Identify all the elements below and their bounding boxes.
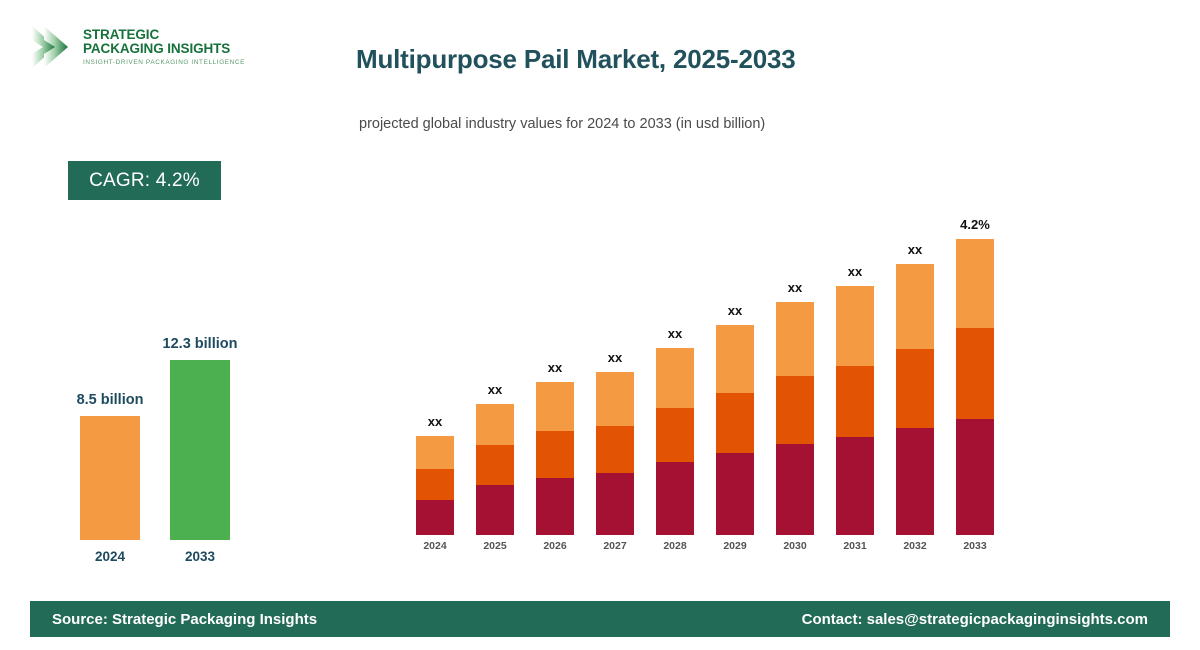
stacked-bar xyxy=(596,372,634,535)
stacked-segment-middle xyxy=(716,393,754,453)
stacked-axis-label: 2030 xyxy=(783,540,806,552)
stacked-axis-label: 2026 xyxy=(543,540,566,552)
green-chevron-icon xyxy=(30,24,74,70)
stacked-column: 4.2%2033 xyxy=(956,239,994,535)
stacked-bar xyxy=(956,239,994,535)
stacked-segment-bottom xyxy=(836,437,874,535)
stacked-value-label: xx xyxy=(848,264,862,279)
stacked-segment-middle xyxy=(596,426,634,473)
stacked-value-label: xx xyxy=(608,350,622,365)
stacked-segment-middle xyxy=(416,469,454,500)
comparison-bar xyxy=(80,416,140,540)
brand-logo: STRATEGIC PACKAGING INSIGHTS INSIGHT-DRI… xyxy=(30,16,270,78)
stacked-segment-bottom xyxy=(656,462,694,535)
stacked-segment-bottom xyxy=(416,500,454,535)
stacked-value-label: 4.2% xyxy=(960,217,990,232)
stacked-segment-top xyxy=(476,404,514,445)
stacked-axis-label: 2033 xyxy=(963,540,986,552)
stacked-column: xx2029 xyxy=(716,325,754,535)
stacked-column: xx2030 xyxy=(776,302,814,535)
page-subtitle: projected global industry values for 202… xyxy=(359,116,765,132)
stacked-segment-bottom xyxy=(956,419,994,535)
footer-contact: Contact: sales@strategicpackaginginsight… xyxy=(802,611,1148,628)
logo-line-1: STRATEGIC xyxy=(83,28,245,42)
stacked-bar xyxy=(896,264,934,535)
stacked-segment-middle xyxy=(956,328,994,419)
stacked-bar xyxy=(476,404,514,535)
stacked-segment-middle xyxy=(776,376,814,444)
stacked-bar xyxy=(716,325,754,535)
comparison-bar-chart: 8.5 billion202412.3 billion2033 xyxy=(55,300,280,570)
stacked-axis-label: 2027 xyxy=(603,540,626,552)
stacked-column: xx2031 xyxy=(836,286,874,535)
cagr-badge: CAGR: 4.2% xyxy=(68,161,221,200)
comparison-axis-label: 2024 xyxy=(95,549,125,564)
stacked-column: xx2032 xyxy=(896,264,934,535)
stacked-column: xx2024 xyxy=(416,436,454,535)
comparison-value-label: 12.3 billion xyxy=(163,336,238,352)
stacked-axis-label: 2024 xyxy=(423,540,446,552)
stacked-axis-label: 2031 xyxy=(843,540,866,552)
stacked-segment-top xyxy=(596,372,634,426)
comparison-value-label: 8.5 billion xyxy=(77,392,144,408)
stacked-segment-bottom xyxy=(716,453,754,535)
comparison-bar xyxy=(170,360,230,540)
stacked-bar xyxy=(656,348,694,535)
stacked-segment-middle xyxy=(896,349,934,428)
page-title: Multipurpose Pail Market, 2025-2033 xyxy=(356,44,796,75)
stacked-column: xx2028 xyxy=(656,348,694,535)
stacked-bar xyxy=(416,436,454,535)
stacked-segment-bottom xyxy=(596,473,634,535)
stacked-segment-middle xyxy=(476,445,514,485)
comparison-column: 12.3 billion2033 xyxy=(170,360,230,540)
comparison-column: 8.5 billion2024 xyxy=(80,416,140,540)
footer-source: Source: Strategic Packaging Insights xyxy=(52,611,317,628)
stacked-segment-top xyxy=(716,325,754,393)
stacked-axis-label: 2028 xyxy=(663,540,686,552)
stacked-segment-bottom xyxy=(536,478,574,535)
stacked-value-label: xx xyxy=(908,242,922,257)
stacked-segment-top xyxy=(776,302,814,376)
stacked-bar-chart: xx2024xx2025xx2026xx2027xx2028xx2029xx20… xyxy=(405,195,1015,560)
footer-bar: Source: Strategic Packaging Insights Con… xyxy=(30,601,1170,637)
stacked-segment-middle xyxy=(836,366,874,437)
logo-line-2: PACKAGING INSIGHTS xyxy=(83,42,245,56)
stacked-axis-label: 2032 xyxy=(903,540,926,552)
stacked-segment-top xyxy=(836,286,874,366)
comparison-axis-label: 2033 xyxy=(185,549,215,564)
stacked-segment-bottom xyxy=(776,444,814,535)
stacked-segment-top xyxy=(416,436,454,469)
stacked-value-label: xx xyxy=(548,360,562,375)
stacked-bar xyxy=(536,382,574,535)
stacked-axis-label: 2029 xyxy=(723,540,746,552)
stacked-segment-bottom xyxy=(476,485,514,535)
stacked-value-label: xx xyxy=(428,414,442,429)
stacked-bar xyxy=(836,286,874,535)
stacked-segment-top xyxy=(956,239,994,328)
logo-wordmark: STRATEGIC PACKAGING INSIGHTS INSIGHT-DRI… xyxy=(83,28,245,67)
stacked-segment-top xyxy=(896,264,934,349)
stacked-segment-bottom xyxy=(896,428,934,535)
stacked-value-label: xx xyxy=(728,303,742,318)
stacked-column: xx2027 xyxy=(596,372,634,535)
stacked-bar xyxy=(776,302,814,535)
stacked-column: xx2025 xyxy=(476,404,514,535)
stacked-segment-middle xyxy=(536,431,574,478)
stacked-axis-label: 2025 xyxy=(483,540,506,552)
stacked-value-label: xx xyxy=(788,280,802,295)
stacked-value-label: xx xyxy=(488,382,502,397)
logo-tagline: INSIGHT-DRIVEN PACKAGING INTELLIGENCE xyxy=(83,60,245,67)
stacked-segment-top xyxy=(536,382,574,431)
stacked-segment-middle xyxy=(656,408,694,462)
stacked-value-label: xx xyxy=(668,326,682,341)
stacked-segment-top xyxy=(656,348,694,408)
stacked-column: xx2026 xyxy=(536,382,574,535)
